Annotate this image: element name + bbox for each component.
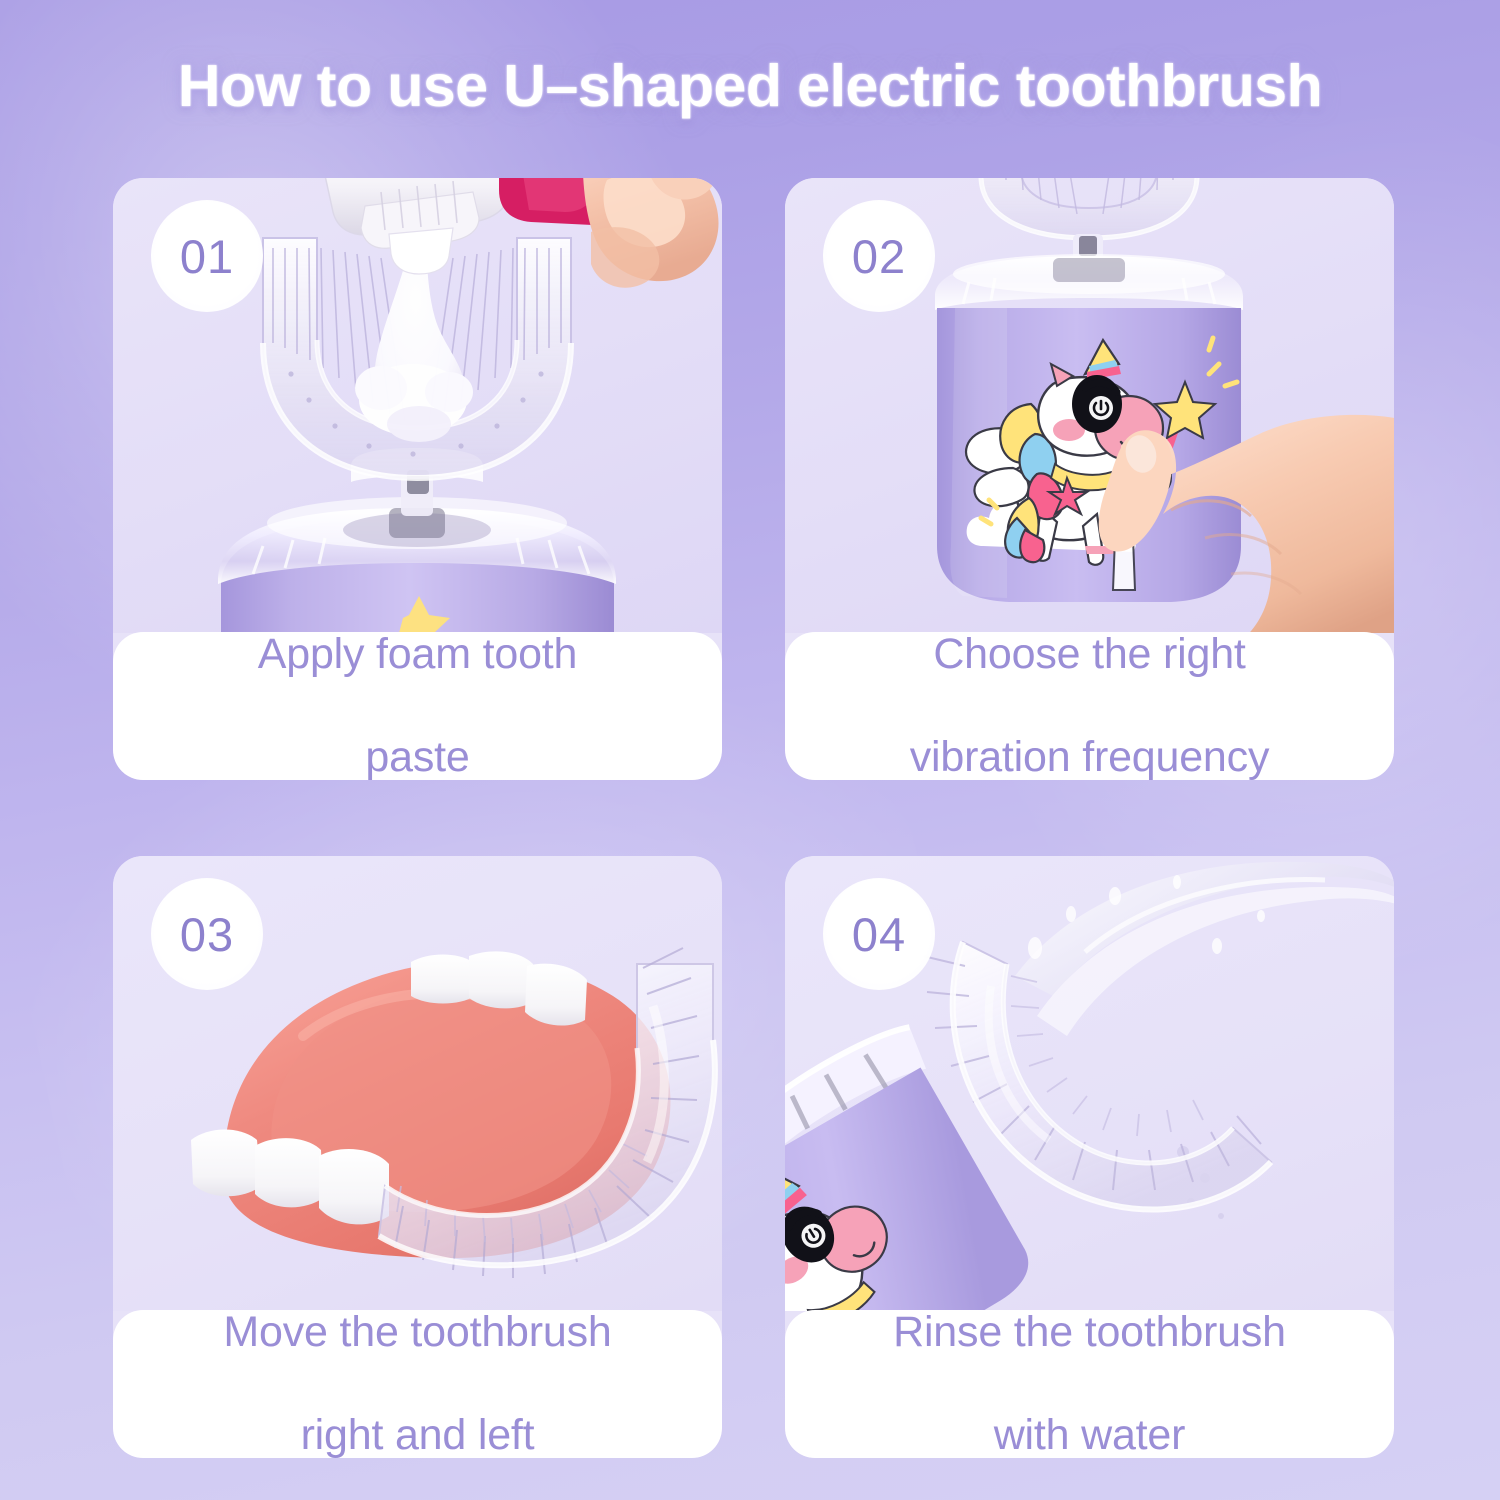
step-card-01: 01 Apply foam tooth paste bbox=[113, 178, 722, 780]
caption-line-2: with water bbox=[893, 1410, 1286, 1458]
page-title: How to use U–shaped electric toothbrush bbox=[0, 52, 1500, 120]
step-badge-01: 01 bbox=[151, 200, 263, 312]
tilted-handle bbox=[785, 1015, 1058, 1311]
step-card-04: 04 Rinse the toothbrush with water bbox=[785, 856, 1394, 1458]
caption-line-1: Move the toothbrush bbox=[223, 1307, 611, 1359]
caption-line-1: Rinse the toothbrush bbox=[893, 1307, 1286, 1359]
step-caption-text-04: Rinse the toothbrush with water bbox=[893, 1307, 1286, 1458]
step-caption-01: Apply foam tooth paste bbox=[113, 632, 722, 780]
step-number-01: 01 bbox=[180, 229, 234, 284]
caption-line-2: right and left bbox=[223, 1410, 611, 1458]
step-caption-text-02: Choose the right vibration frequency bbox=[910, 629, 1270, 780]
step-number-04: 04 bbox=[852, 907, 906, 962]
step-caption-04: Rinse the toothbrush with water bbox=[785, 1310, 1394, 1458]
step-caption-text-01: Apply foam tooth paste bbox=[258, 629, 578, 780]
step-card-02: 02 Choose the right vibration frequency bbox=[785, 178, 1394, 780]
power-button-icon bbox=[1072, 375, 1122, 433]
step-caption-03: Move the toothbrush right and left bbox=[113, 1310, 722, 1458]
step-caption-02: Choose the right vibration frequency bbox=[785, 632, 1394, 780]
caption-line-2: paste bbox=[258, 732, 578, 780]
caption-line-2: vibration frequency bbox=[910, 732, 1270, 780]
step-number-03: 03 bbox=[180, 907, 234, 962]
poster-root: How to use U–shaped electric toothbrush bbox=[0, 0, 1500, 1500]
caption-line-1: Apply foam tooth bbox=[258, 629, 578, 681]
step-number-02: 02 bbox=[852, 229, 906, 284]
step-caption-text-03: Move the toothbrush right and left bbox=[223, 1307, 611, 1458]
caption-line-1: Choose the right bbox=[910, 629, 1270, 681]
steps-grid: 01 Apply foam tooth paste bbox=[113, 178, 1394, 1458]
step-badge-03: 03 bbox=[151, 878, 263, 990]
step-badge-02: 02 bbox=[823, 200, 935, 312]
step-badge-04: 04 bbox=[823, 878, 935, 990]
u-shaped-brush-head-top bbox=[981, 178, 1197, 238]
hand-holding-dispenser bbox=[583, 178, 719, 288]
step-card-03: 03 Move the toothbrush right and left bbox=[113, 856, 722, 1458]
